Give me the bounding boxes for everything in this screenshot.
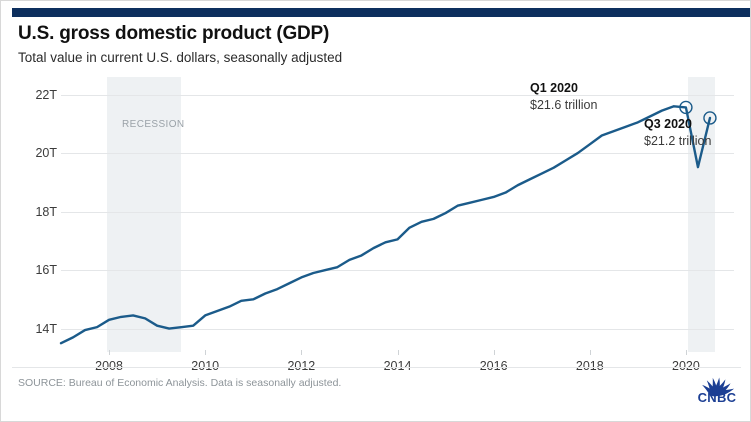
- page-subtitle: Total value in current U.S. dollars, sea…: [18, 50, 342, 65]
- cnbc-wordmark: CNBC: [691, 390, 743, 405]
- footer-divider: [12, 367, 741, 368]
- gdp-line-series: [1, 77, 751, 352]
- x-axis-tick-label: 2012: [287, 359, 315, 373]
- x-axis-tick-label: 2014: [384, 359, 412, 373]
- x-axis-tick-label: 2010: [191, 359, 219, 373]
- chart-page: U.S. gross domestic product (GDP) Total …: [0, 0, 751, 422]
- annotation-q1-2020-label: Q1 2020: [530, 81, 578, 95]
- x-axis-tick-label: 2016: [480, 359, 508, 373]
- source-note: SOURCE: Bureau of Economic Analysis. Dat…: [18, 377, 341, 389]
- annotation-q3-2020-label: Q3 2020: [644, 117, 692, 131]
- brand-accent-bar: [12, 8, 751, 17]
- annotation-q1-2020-value: $21.6 trillion: [530, 98, 597, 112]
- x-axis-tick-label: 2008: [95, 359, 123, 373]
- gdp-line-path: [61, 106, 710, 343]
- annotation-q3-2020-value: $21.2 trillion: [644, 134, 711, 148]
- plot-area: 14T16T18T20T22T 200820102012201420162018…: [1, 77, 751, 352]
- page-title: U.S. gross domestic product (GDP): [18, 23, 329, 45]
- x-axis-tick-label: 2018: [576, 359, 604, 373]
